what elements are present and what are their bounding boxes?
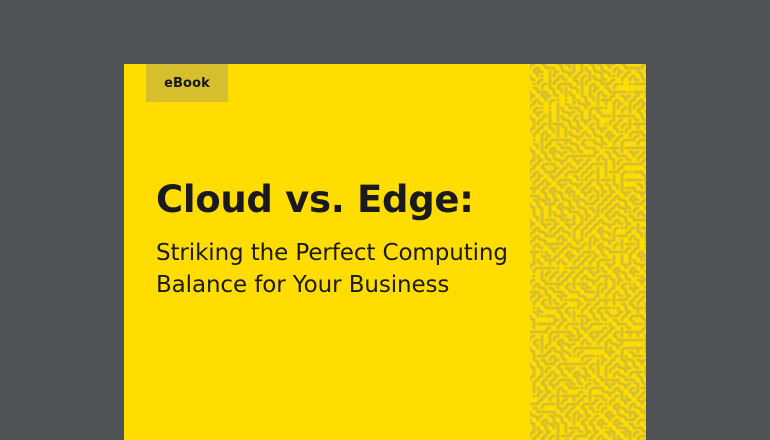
maze-pattern-icon: [530, 64, 646, 440]
cover-text-block: Cloud vs. Edge: Striking the Perfect Com…: [156, 180, 536, 302]
ebook-cover-card[interactable]: eBook Cloud vs. Edge: Striking the Perfe…: [124, 64, 646, 440]
ebook-badge: eBook: [146, 64, 228, 102]
cover-title: Cloud vs. Edge:: [156, 180, 536, 219]
cover-subtitle-line-2: Balance for Your Business: [156, 270, 536, 302]
ebook-badge-label: eBook: [164, 77, 210, 90]
screenshot-canvas: eBook Cloud vs. Edge: Striking the Perfe…: [0, 0, 770, 440]
cover-subtitle-line-1: Striking the Perfect Computing: [156, 238, 536, 270]
cover-subtitle: Striking the Perfect Computing Balance f…: [156, 238, 536, 301]
